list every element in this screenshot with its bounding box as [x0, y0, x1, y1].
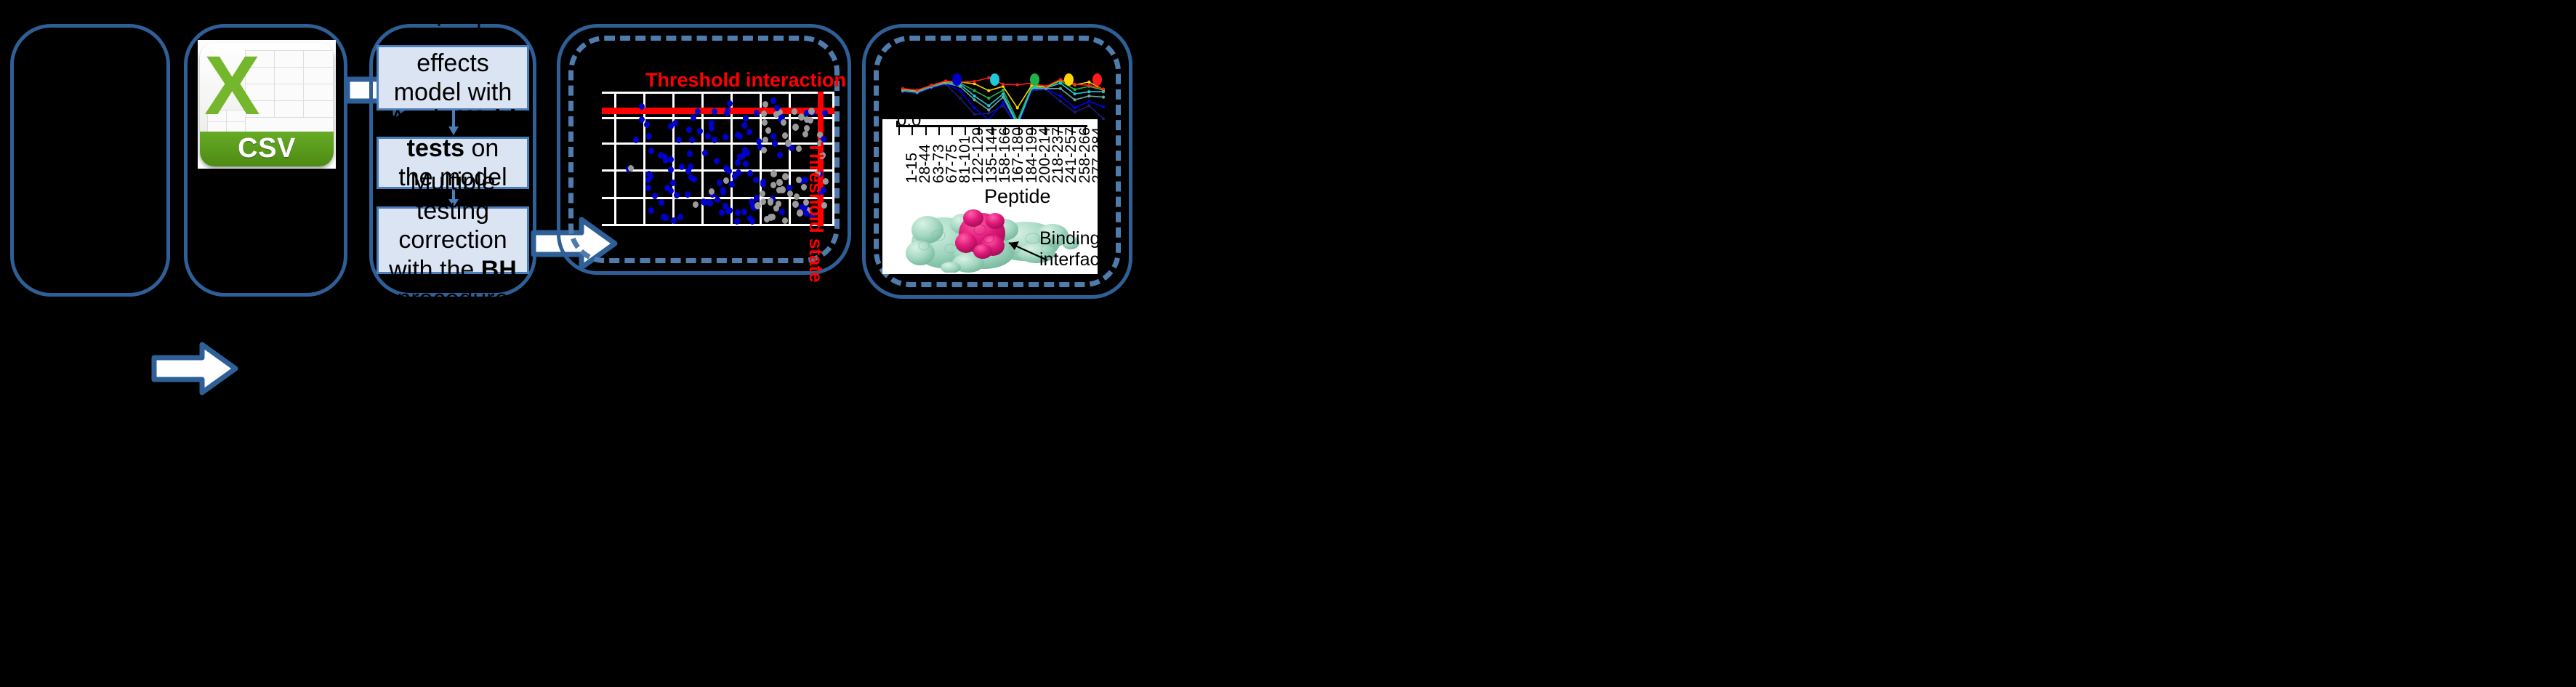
scatter-point: [687, 150, 693, 157]
legend-dot-cyan: [990, 73, 999, 86]
scatter-point: [671, 217, 677, 224]
scatter-point: [723, 177, 729, 184]
chart-data-point: [1087, 84, 1090, 87]
scatter-point: [723, 134, 728, 140]
scatter-point: [761, 111, 767, 117]
scatter-point: [723, 165, 729, 172]
scatter-point: [761, 147, 767, 153]
chart-data-point: [987, 108, 990, 111]
chart-data-point: [987, 89, 990, 92]
scatter-point: [770, 97, 776, 104]
scatter-point: [734, 218, 740, 225]
scatter-point: [727, 207, 733, 214]
scatter-point: [717, 180, 723, 186]
chart-data-point: [1016, 84, 1019, 87]
scatter-point: [792, 124, 799, 131]
chart-data-point: [1087, 90, 1090, 93]
scatter-point: [796, 145, 802, 152]
scatter-point: [744, 150, 750, 156]
scatter-point: [644, 121, 650, 128]
scatter-point: [792, 108, 797, 115]
scatter-point: [668, 188, 674, 194]
chart-data-point: [987, 104, 990, 107]
scatter-point: [773, 111, 779, 118]
scatter-point: [712, 108, 717, 115]
scatter-point: [686, 126, 692, 133]
chart-data-point: [973, 80, 976, 83]
scatter-point: [693, 201, 699, 208]
scatter-point: [648, 148, 654, 154]
scatter-point: [753, 177, 759, 183]
scatter-point: [741, 209, 747, 215]
csv-file-icon[interactable]: X CSV: [198, 40, 336, 169]
scatter-point: [735, 132, 741, 138]
chart-data-point: [944, 79, 947, 82]
peptide-axis-structure-card: 0.0 1-1528-4463-7367-7581-101122-129135-…: [882, 119, 1098, 274]
scatter-point: [705, 133, 711, 140]
scatter-point: [702, 150, 708, 156]
scatter-point: [776, 179, 783, 186]
chart-data-point: [930, 84, 933, 87]
chart-data-point: [1074, 111, 1076, 113]
scatter-point: [762, 119, 768, 126]
chart-data-point: [1102, 117, 1105, 120]
scatter-point: [724, 110, 730, 116]
scatter-point: [754, 195, 760, 201]
scatter-point: [685, 168, 691, 174]
scatter-point: [808, 108, 815, 115]
scatter-point: [668, 166, 674, 173]
scatter-point: [714, 158, 720, 164]
scatter-point: [719, 209, 725, 216]
scatter-point: [648, 173, 653, 180]
scatter-point: [822, 110, 828, 116]
chart-data-point: [987, 112, 990, 115]
chart-data-point: [1074, 92, 1076, 95]
scatter-point: [628, 165, 634, 172]
chart-data-point: [1059, 95, 1062, 97]
scatter-point: [677, 214, 683, 220]
scatter-point: [743, 115, 749, 121]
scatter-point: [797, 209, 803, 217]
flowchart-canvas: X CSV Fit a linear mixed-effects model w…: [0, 0, 2576, 687]
scatter-point: [760, 190, 765, 197]
scatter-point: [785, 140, 792, 147]
scatter-point: [770, 182, 776, 188]
scatter-point: [754, 110, 760, 116]
chart-data-point: [973, 98, 976, 101]
chart-data-point: [916, 89, 919, 92]
scatter-point: [770, 133, 776, 140]
scatter-point: [770, 170, 777, 177]
scatter-point: [691, 176, 697, 182]
binding-interface-annotation: Bindinginterface: [1039, 228, 1098, 270]
chart-data-point: [1074, 98, 1076, 101]
chart-data-point: [973, 106, 976, 109]
legend-dot-green: [1030, 73, 1039, 86]
scatter-point: [645, 185, 651, 191]
scatter-point: [659, 199, 664, 206]
scatter-point: [773, 205, 779, 212]
x-axis-tick-label: 277-284: [1090, 127, 1098, 183]
scatter-point: [685, 191, 691, 198]
chart-data-point: [1102, 105, 1105, 108]
scatter-point: [782, 132, 788, 139]
interaction-scatter-plot: [602, 92, 834, 226]
chart-data-point: [1016, 106, 1019, 109]
scatter-point: [747, 170, 753, 177]
scatter-point: [668, 123, 674, 129]
threshold-state-label: Threshold state: [805, 142, 827, 283]
scatter-point: [697, 128, 703, 134]
csv-format-band: CSV: [200, 132, 334, 166]
chart-data-point: [1074, 88, 1076, 91]
scatter-point: [646, 133, 652, 140]
scatter-point: [792, 201, 799, 208]
scatter-point: [760, 198, 766, 205]
scatter-point: [768, 214, 774, 221]
legend-dot-red: [1092, 73, 1102, 86]
scatter-point: [695, 108, 701, 115]
scatter-point: [679, 164, 685, 170]
step-bh-label: Multiple testingcorrectionwith the BH pr…: [386, 167, 520, 313]
scatter-point: [749, 218, 755, 225]
scatter-point: [772, 140, 778, 147]
chart-data-point: [973, 89, 976, 92]
scatter-point: [787, 190, 793, 197]
chart-data-point: [1074, 106, 1076, 109]
scatter-point: [781, 119, 786, 126]
scatter-point: [648, 207, 654, 214]
scatter-point: [729, 181, 735, 188]
scatter-point: [691, 114, 696, 121]
scatter-point: [689, 137, 695, 143]
scatter-point: [633, 137, 639, 143]
chart-data-point: [1087, 81, 1090, 84]
scatter-point: [652, 193, 658, 199]
scatter-point: [777, 152, 783, 158]
scatter-point: [741, 122, 747, 129]
scatter-point: [762, 101, 768, 108]
chart-data-point: [1002, 101, 1005, 104]
chart-data-point: [1087, 95, 1090, 97]
chart-data-point: [973, 113, 976, 116]
scatter-point: [663, 214, 669, 221]
excel-x-glyph: X: [204, 44, 260, 128]
legend-dot-blue: [952, 73, 962, 86]
scatter-points-layer: [602, 92, 834, 226]
scatter-point: [779, 209, 785, 215]
csv-icon-graphic: X CSV: [200, 43, 334, 166]
chart-data-point: [901, 87, 904, 90]
scatter-point: [779, 186, 786, 193]
scatter-point: [798, 113, 805, 121]
chart-data-point: [1059, 78, 1062, 81]
scatter-point: [720, 187, 726, 193]
scatter-point: [735, 209, 741, 216]
chart-data-point: [1002, 89, 1005, 92]
scatter-point: [768, 198, 773, 204]
arrow-input-to-data: [151, 340, 238, 397]
scatter-point: [670, 180, 676, 186]
chart-data-point: [1102, 87, 1105, 90]
step-reml-box[interactable]: Fit a linear mixed-effects model withREM…: [377, 45, 529, 111]
scatter-point: [715, 196, 720, 203]
chart-data-point: [1074, 83, 1076, 86]
scatter-point: [762, 137, 768, 143]
chart-data-point: [1102, 96, 1105, 99]
scatter-point: [782, 173, 789, 180]
scatter-point: [712, 137, 717, 143]
chart-data-point: [1045, 85, 1047, 88]
scatter-point: [754, 202, 761, 209]
chart-data-point: [1087, 100, 1090, 103]
scatter-point: [674, 192, 680, 198]
scatter-point: [639, 103, 645, 110]
chart-data-point: [1059, 87, 1062, 90]
scatter-point: [732, 173, 738, 180]
scatter-point: [743, 161, 749, 167]
scatter-point: [760, 181, 766, 188]
csv-format-label: CSV: [238, 133, 296, 164]
chart-data-point: [1002, 83, 1005, 86]
scatter-point: [796, 177, 802, 183]
scatter-point: [774, 105, 780, 111]
scatter-point: [676, 137, 682, 143]
chart-data-point: [959, 89, 962, 92]
chart-data-point: [959, 97, 962, 100]
scatter-title: Threshold interaction: [645, 69, 846, 92]
chart-data-point: [1059, 100, 1062, 103]
scatter-point: [802, 131, 808, 137]
chart-data-point: [1087, 104, 1090, 107]
scatter-point: [765, 127, 771, 134]
scatter-point: [746, 129, 752, 135]
scatter-point: [735, 159, 741, 166]
legend-dot-yellow: [1064, 73, 1074, 86]
scatter-point: [782, 217, 788, 224]
scatter-point: [794, 193, 800, 200]
input-panel: [10, 24, 170, 297]
scatter-point: [727, 100, 733, 107]
chart-data-point: [987, 97, 990, 100]
scatter-point: [668, 156, 674, 163]
scatter-point: [707, 199, 712, 206]
step-bh-box[interactable]: Multiple testingcorrectionwith the BH pr…: [377, 206, 529, 274]
chart-data-point: [973, 95, 976, 97]
